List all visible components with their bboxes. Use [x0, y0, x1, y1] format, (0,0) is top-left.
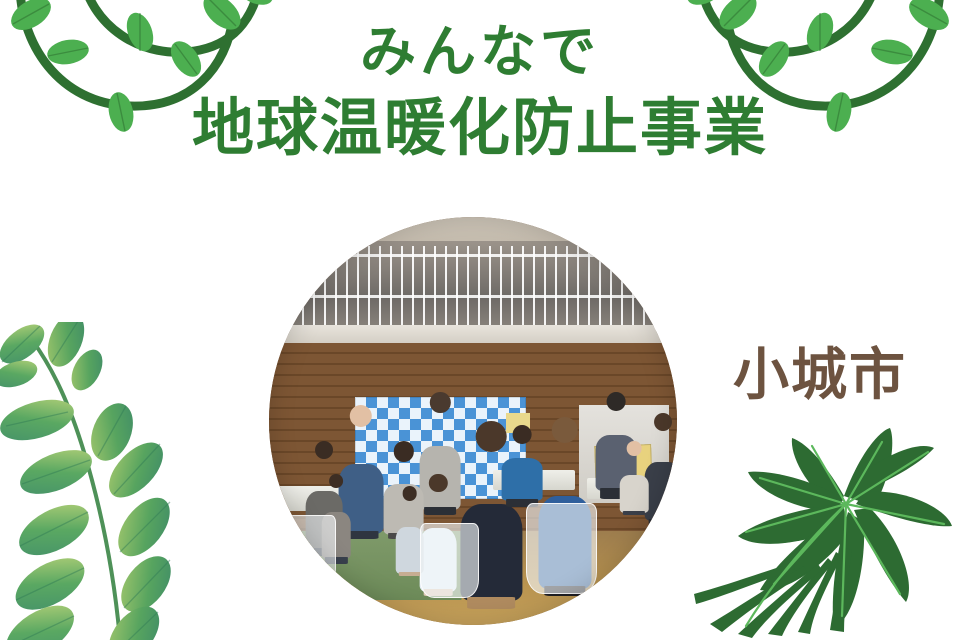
plastic-bag-center — [420, 523, 479, 598]
person-head — [513, 425, 532, 444]
plastic-bag-right — [526, 503, 597, 595]
staff-blue-uniform — [502, 425, 543, 507]
person-head — [393, 441, 413, 461]
person-head — [654, 413, 672, 431]
person-legs — [467, 597, 515, 608]
woman-right-edge — [644, 413, 677, 527]
person-legs — [399, 572, 421, 576]
photo-railing-bar-top — [269, 254, 677, 257]
title-line-1: みんなで — [0, 24, 960, 83]
person-head — [606, 392, 625, 411]
poster-title: みんなで 地球温暖化防止事業 — [0, 24, 960, 162]
person-body — [502, 458, 543, 500]
person-head — [627, 441, 642, 456]
plastic-bag-left — [285, 515, 336, 586]
monstera-leaf-bottom-right-decoration — [694, 424, 960, 640]
person-body — [620, 475, 649, 513]
person-head — [350, 405, 372, 427]
photo-railing — [269, 246, 677, 332]
person-head — [402, 486, 417, 501]
poster-canvas: みんなで 地球温暖化防止事業 小城市 — [0, 0, 960, 640]
person-head — [329, 474, 343, 488]
title-line-2: 地球温暖化防止事業 — [0, 93, 960, 162]
person-head — [429, 474, 447, 492]
person-head — [552, 417, 579, 444]
watercolor-branch-bottom-left-decoration — [0, 322, 214, 640]
person-head — [430, 392, 450, 412]
person-body — [644, 462, 677, 521]
person-legs — [648, 519, 677, 527]
child-right-mask — [620, 441, 649, 514]
community-event-photo — [269, 217, 677, 625]
person-legs — [623, 511, 645, 514]
city-name-label: 小城市 — [733, 330, 907, 411]
photo-railing-bar-mid — [269, 295, 677, 298]
person-head — [315, 441, 333, 459]
